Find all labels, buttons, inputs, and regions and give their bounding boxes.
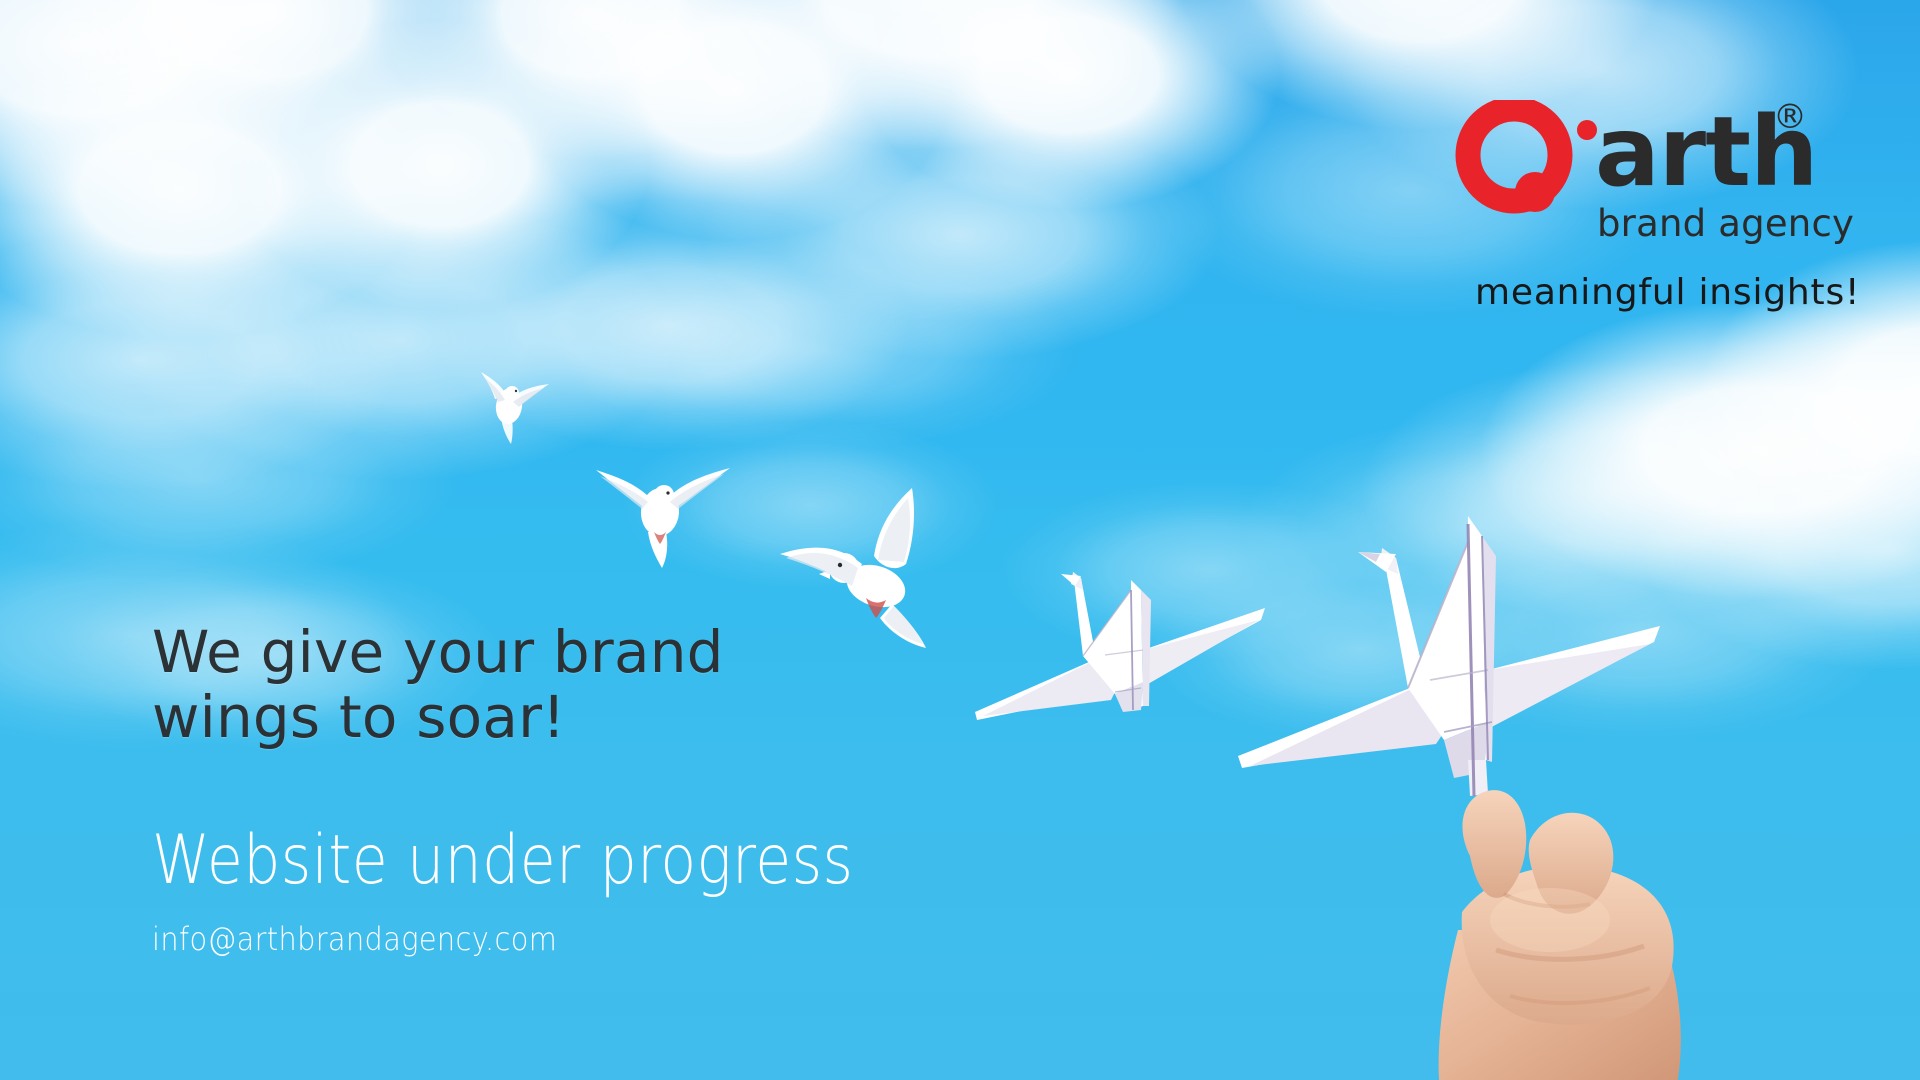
sky-top-gradient: [0, 0, 1920, 497]
logo-descriptor: brand agency: [1597, 202, 1854, 245]
registered-trademark-icon: ®: [1773, 100, 1807, 134]
brand-logo[interactable]: arth ® brand agency: [1455, 98, 1855, 220]
logo-wordmark-row: arth ® brand agency: [1455, 98, 1855, 220]
headline-text: We give your brand wings to soar!: [152, 620, 724, 750]
contact-email[interactable]: info@arthbrandagency.com: [152, 920, 557, 958]
red-dot-icon: [1577, 120, 1597, 140]
banner-canvas: arth ® brand agency meaningful insights!…: [0, 0, 1920, 1080]
subhead-text: Website under progress: [152, 827, 853, 895]
q-circle-mark-icon: [1455, 100, 1573, 218]
brand-tagline: meaningful insights!: [1475, 272, 1860, 313]
